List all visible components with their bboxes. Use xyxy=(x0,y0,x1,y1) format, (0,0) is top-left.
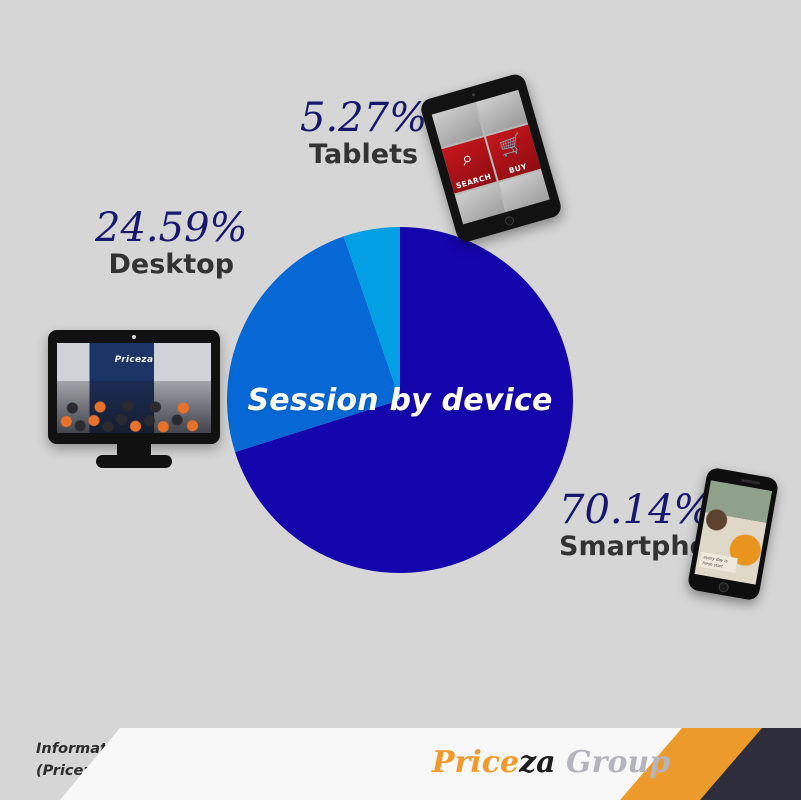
logo-part-group: Group xyxy=(556,745,671,780)
infographic-canvas: Session by device 5.27% Tablets 24.59% D… xyxy=(0,0,801,800)
pie-chart: Session by device xyxy=(225,225,575,575)
shopping-cart-icon: 🛒 xyxy=(488,131,536,161)
monitor-stand-base xyxy=(96,455,172,468)
label-tablets: 5.27% Tablets xyxy=(300,98,427,170)
magnifier-icon: ⌕ xyxy=(443,143,491,173)
pie-chart-svg xyxy=(225,225,575,575)
logo-part-price: Price xyxy=(432,745,519,780)
tablets-percent: 5.27% xyxy=(300,98,427,139)
label-desktop: 24.59% Desktop xyxy=(95,208,248,280)
tablets-device-name: Tablets xyxy=(300,139,427,170)
footer-band-shapes xyxy=(0,728,801,800)
logo-part-za: za xyxy=(519,745,555,780)
tablet-device-image: ⌕ SEARCH 🛒 BUY xyxy=(419,72,564,244)
desktop-percent: 24.59% xyxy=(95,208,248,249)
monitor-camera-icon xyxy=(132,335,136,339)
monitor-team-photo xyxy=(57,381,211,433)
monitor-screen: Priceza xyxy=(57,343,211,433)
priceza-group-logo: Priceza Group xyxy=(432,748,670,778)
monitor-banner-text: Priceza xyxy=(115,355,154,365)
desktop-monitor-image: Priceza xyxy=(48,330,220,470)
desktop-device-name: Desktop xyxy=(95,249,248,280)
footer-brand-band xyxy=(0,728,801,800)
monitor-body: Priceza xyxy=(48,330,220,444)
